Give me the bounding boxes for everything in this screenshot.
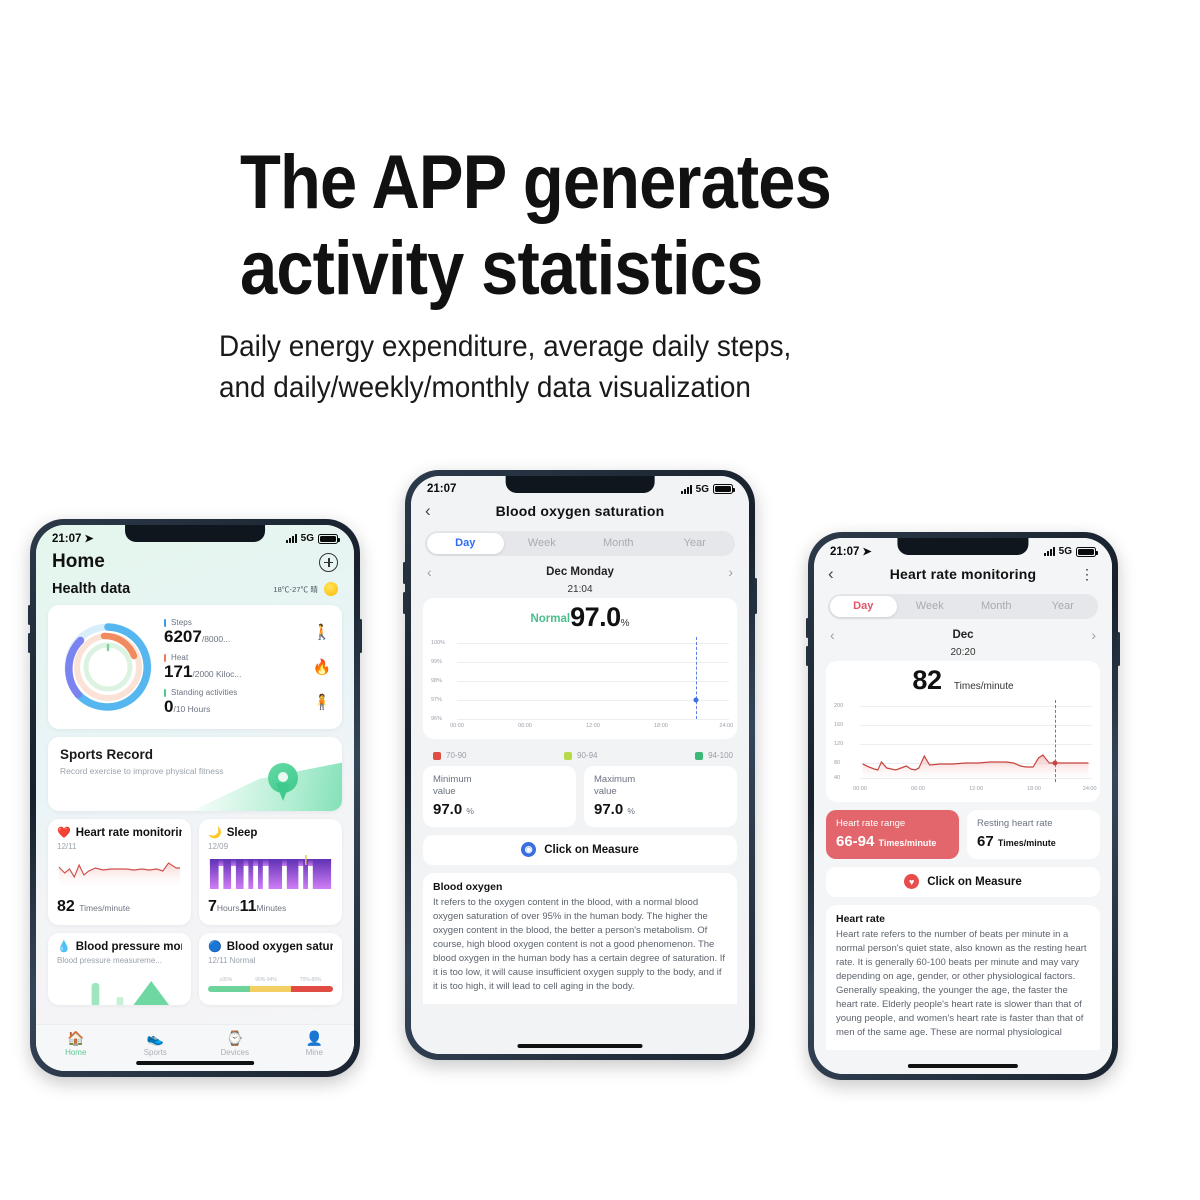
- home-header: Home: [36, 547, 354, 579]
- network-label: 5G: [1059, 546, 1072, 557]
- nav-item-sports[interactable]: 👟 Sports: [116, 1025, 196, 1063]
- headline-line-2: activity statistics: [240, 226, 944, 312]
- legend-item-high: 94-100: [695, 751, 733, 760]
- metric-goal: /10 Hours: [173, 704, 210, 714]
- chart-data-point: [1052, 761, 1057, 766]
- tab-year[interactable]: Year: [1030, 596, 1097, 617]
- summary-card-row-1: ❤️ Heart rate monitorin 12/11 82 Times/m…: [48, 819, 342, 925]
- legend-item-mid: 90-94: [564, 751, 597, 760]
- status-time: 21:07: [830, 546, 859, 558]
- page-title: Blood oxygen saturation: [447, 503, 713, 519]
- x-tick: 06:00: [518, 723, 532, 729]
- heart-icon: ♥: [904, 874, 919, 889]
- blood-pressure-card[interactable]: 💧 Blood pressure mor Blood pressure meas…: [48, 933, 191, 1005]
- page-header: ‹ Heart rate monitoring ⋮: [814, 560, 1112, 594]
- volume-up-button[interactable]: [806, 618, 809, 638]
- metric-row[interactable]: Steps 6207/8000... 🚶: [164, 618, 332, 646]
- stat-unit: Times/minute: [879, 838, 937, 848]
- status-time: 21:07: [427, 483, 456, 495]
- next-date-button[interactable]: ›: [728, 564, 733, 580]
- volume-down-button[interactable]: [28, 633, 31, 653]
- sleep-bars-chart: [208, 855, 333, 889]
- notch: [125, 525, 265, 542]
- stat-key-line1: Maximum: [594, 774, 727, 786]
- standing-icon: 🧍: [312, 693, 332, 711]
- measure-button[interactable]: ♥ Click on Measure: [826, 867, 1100, 897]
- card-value: 82: [57, 898, 75, 915]
- network-label: 5G: [696, 484, 709, 495]
- stat-key: Resting heart rate: [977, 818, 1090, 830]
- reading-time: 21:04: [411, 582, 749, 598]
- network-label: 5G: [301, 533, 314, 544]
- nav-label: Sports: [144, 1048, 167, 1057]
- resting-heart-rate-box: Resting heart rate 67 Times/minute: [967, 810, 1100, 859]
- y-tick: 97%: [431, 697, 442, 703]
- y-tick: 96%: [431, 716, 442, 722]
- plot-area: [457, 637, 729, 719]
- phone-mockup-heart-rate: 21:07 ➤ 5G ‹ Heart rate monitoring ⋮ Day…: [808, 532, 1118, 1080]
- heart-rate-day-chart[interactable]: 200 160 120 80 40: [832, 700, 1094, 796]
- info-article: Blood oxygen It refers to the oxygen con…: [423, 873, 737, 1004]
- heart-rate-area-series: [860, 700, 1092, 782]
- card-unit-min: Minutes: [257, 903, 287, 913]
- heart-icon: ❤️: [57, 828, 71, 839]
- current-reading: Normal97.0%: [429, 602, 731, 635]
- card-title: Heart rate monitorin: [76, 827, 182, 839]
- tab-day[interactable]: Day: [427, 533, 504, 554]
- tab-year[interactable]: Year: [657, 533, 734, 554]
- x-tick: 12:00: [586, 723, 600, 729]
- x-tick: 18:00: [654, 723, 668, 729]
- tab-day[interactable]: Day: [830, 596, 897, 617]
- info-article: Heart rate Heart rate refers to the numb…: [826, 905, 1100, 1050]
- volume-down-button[interactable]: [403, 592, 406, 614]
- promo-page: The APP generates activity statistics Da…: [0, 0, 1200, 1200]
- measure-button[interactable]: ◉ Click on Measure: [423, 835, 737, 865]
- page-title: Heart rate monitoring: [850, 566, 1076, 582]
- back-button[interactable]: ‹: [425, 501, 447, 521]
- tab-week[interactable]: Week: [897, 596, 964, 617]
- stat-key-line2: value: [433, 786, 566, 798]
- circle-icon: 🔵: [208, 942, 222, 953]
- heart-rate-sparkline: [57, 855, 182, 889]
- reading-time: 20:20: [814, 645, 1112, 661]
- date-navigator: ‹ Dec Monday ›: [411, 556, 749, 582]
- chart-legend: 70-90 90-94 94-100: [411, 747, 749, 766]
- page-subtitle: Daily energy expenditure, average daily …: [219, 326, 982, 408]
- battery-icon: [713, 484, 733, 494]
- spo2-chart-card: Normal97.0% 100% 99% 98% 97% 96%: [423, 598, 737, 739]
- y-tick: 120: [834, 741, 843, 747]
- shoe-icon: 👟: [147, 1031, 164, 1045]
- home-indicator: [908, 1064, 1018, 1068]
- phone-mockup-home: 21:07 ➤ 5G Home Health data: [30, 519, 360, 1077]
- reading-unit: Times/minute: [954, 681, 1014, 692]
- stat-key: Heart rate range: [836, 818, 949, 830]
- card-subtitle: 12/09: [208, 842, 333, 851]
- plot-area: [860, 700, 1092, 782]
- volume-up-button[interactable]: [403, 562, 406, 584]
- heart-rate-chart-card: 82 Times/minute 200 160 120 80 40: [826, 661, 1100, 802]
- minimum-value-box: Minimum value 97.0 %: [423, 766, 576, 827]
- y-tick: 80: [834, 760, 840, 766]
- metric-name: Standing activities: [171, 688, 237, 697]
- metric-name: Steps: [171, 618, 192, 627]
- card-title: Blood oxygen satur: [227, 941, 333, 953]
- card-title: Blood pressure mor: [76, 941, 182, 953]
- stat-unit: %: [627, 806, 635, 816]
- y-tick: 40: [834, 775, 840, 781]
- measure-label: Click on Measure: [544, 844, 639, 856]
- flame-icon: 🔥: [312, 658, 332, 676]
- card-title: Sleep: [227, 827, 258, 839]
- legend-label: 70-90: [446, 751, 466, 760]
- map-pin-icon: [268, 763, 298, 801]
- legend-label: 94-100: [708, 751, 733, 760]
- reading-value: 97.0: [570, 602, 621, 632]
- x-tick: 00:00: [853, 786, 867, 792]
- subtitle-line-1: Daily energy expenditure, average daily …: [219, 326, 982, 367]
- metric-value: 171: [164, 662, 192, 681]
- x-tick: 06:00: [911, 786, 925, 792]
- spo2-range-bar: [208, 986, 333, 992]
- bp-illustration: [57, 971, 182, 1005]
- metric-row[interactable]: Standing activities 0/10 Hours 🧍: [164, 688, 332, 716]
- nav-item-devices[interactable]: ⌚ Devices: [195, 1025, 275, 1063]
- chart-cursor-line: [696, 637, 697, 719]
- legend-label: 90-94: [577, 751, 597, 760]
- stat-key-line2: value: [594, 786, 727, 798]
- home-screen: 21:07 ➤ 5G Home Health data: [36, 525, 354, 1071]
- maximum-value-box: Maximum value 97.0 %: [584, 766, 737, 827]
- card-subtitle: 12/11 Normal: [208, 956, 333, 965]
- metric-goal: /2000 Kiloc...: [192, 669, 241, 679]
- card-subtitle: 12/11: [57, 842, 182, 851]
- article-heading: Heart rate: [836, 913, 1090, 925]
- current-reading: 82 Times/minute: [832, 665, 1094, 698]
- battery-icon: [318, 534, 338, 544]
- y-tick: 98%: [431, 678, 442, 684]
- x-tick: 18:00: [1027, 786, 1041, 792]
- page-header: ‹ Blood oxygen saturation: [411, 497, 749, 531]
- droplet-icon: 💧: [57, 942, 71, 953]
- spo2-icon: ◉: [521, 842, 536, 857]
- back-button[interactable]: ‹: [828, 564, 850, 584]
- signal-icon: [681, 485, 692, 494]
- stat-unit: Times/minute: [998, 838, 1056, 848]
- card-unit-hours: Hours: [217, 903, 240, 913]
- headline-line-1: The APP generates: [240, 140, 831, 225]
- sports-record-title: Sports Record: [60, 747, 330, 762]
- metric-goal: /8000...: [202, 634, 230, 644]
- x-axis: 00:00 06:00 12:00 18:00 24:00: [457, 721, 729, 733]
- x-tick: 00:00: [450, 723, 464, 729]
- heart-rate-card[interactable]: ❤️ Heart rate monitorin 12/11 82 Times/m…: [48, 819, 191, 925]
- date-navigator: ‹ Dec ›: [814, 619, 1112, 645]
- prev-date-button[interactable]: ‹: [830, 627, 835, 643]
- weather-widget[interactable]: 18℃-27℃ 晴: [273, 582, 338, 596]
- heart-rate-range-box: Heart rate range 66-94 Times/minute: [826, 810, 959, 859]
- card-unit: Times/minute: [79, 903, 130, 913]
- page-title: The APP generates activity statistics: [240, 140, 944, 312]
- rings-svg: [56, 615, 160, 719]
- y-tick: 200: [834, 703, 843, 709]
- nav-item-home[interactable]: 🏠 Home: [36, 1025, 116, 1063]
- next-date-button[interactable]: ›: [1091, 627, 1096, 643]
- person-icon: 👤: [306, 1031, 323, 1045]
- home-title: Home: [52, 551, 105, 573]
- legend-item-low: 70-90: [433, 751, 466, 760]
- home-icon: 🏠: [67, 1031, 84, 1045]
- moon-icon: 🌙: [208, 828, 222, 839]
- sun-icon: [324, 582, 338, 596]
- activity-rings: [56, 615, 160, 719]
- watch-icon: ⌚: [226, 1031, 243, 1045]
- current-date-label: Dec Monday: [546, 566, 614, 578]
- subtitle-line-2: and daily/weekly/monthly data visualizat…: [219, 367, 982, 408]
- stat-unit: %: [466, 806, 474, 816]
- phone-mockup-blood-oxygen: 21:07 5G ‹ Blood oxygen saturation Day W…: [405, 470, 755, 1060]
- activity-rings-card[interactable]: Steps 6207/8000... 🚶 Heat 171/2000 Kiloc…: [48, 605, 342, 729]
- kebab-menu-icon[interactable]: ⋮: [1076, 570, 1098, 578]
- battery-icon: [1076, 547, 1096, 557]
- stat-key-line1: Minimum: [433, 774, 566, 786]
- stat-value: 97.0: [433, 801, 462, 818]
- measure-label: Click on Measure: [927, 876, 1022, 888]
- volume-up-button[interactable]: [28, 605, 31, 625]
- y-tick: 160: [834, 722, 843, 728]
- heart-rate-screen: 21:07 ➤ 5G ‹ Heart rate monitoring ⋮ Day…: [814, 538, 1112, 1074]
- power-button[interactable]: [1117, 632, 1120, 666]
- nav-label: Mine: [306, 1048, 323, 1057]
- card-value-min: 11: [240, 898, 257, 915]
- y-axis: 100% 99% 98% 97% 96%: [431, 637, 457, 719]
- metric-row[interactable]: Heat 171/2000 Kiloc... 🔥: [164, 653, 332, 681]
- chart-data-point: [694, 698, 699, 703]
- tab-month[interactable]: Month: [580, 533, 657, 554]
- reading-unit: %: [621, 618, 630, 629]
- status-time: 21:07: [52, 533, 81, 545]
- x-tick: 24:00: [719, 723, 733, 729]
- location-arrow-icon: ➤: [862, 545, 871, 558]
- stat-row: Minimum value 97.0 % Maximum value 97.0 …: [423, 766, 737, 827]
- card-subtitle: Blood pressure measureme...: [57, 956, 182, 965]
- metric-name: Heat: [171, 653, 188, 662]
- stat-value: 67: [977, 833, 994, 850]
- location-arrow-icon: ➤: [84, 532, 93, 545]
- stat-value: 97.0: [594, 801, 623, 818]
- stat-value: 66-94: [836, 833, 874, 850]
- reading-value: 82: [912, 665, 941, 695]
- home-indicator: [517, 1044, 642, 1048]
- walking-icon: 🚶: [312, 623, 332, 641]
- range-label: 70%-89%: [300, 977, 322, 983]
- health-data-label: Health data: [52, 581, 130, 597]
- range-label: ≥95%: [219, 977, 232, 983]
- x-tick: 12:00: [969, 786, 983, 792]
- tab-week[interactable]: Week: [504, 533, 581, 554]
- status-badge: Normal: [530, 613, 570, 625]
- chart-cursor-line: [1055, 700, 1056, 782]
- power-button[interactable]: [359, 619, 362, 653]
- blood-oxygen-screen: 21:07 5G ‹ Blood oxygen saturation Day W…: [411, 476, 749, 1054]
- signal-icon: [1044, 547, 1055, 556]
- sleep-card[interactable]: 🌙 Sleep 12/09: [199, 819, 342, 925]
- nav-label: Home: [65, 1048, 86, 1057]
- signal-icon: [286, 534, 297, 543]
- x-axis: 00:00 06:00 12:00 18:00 24:00: [860, 784, 1092, 796]
- nav-item-mine[interactable]: 👤 Mine: [275, 1025, 355, 1063]
- range-label: 90%-94%: [255, 977, 277, 983]
- health-data-header: Health data 18℃-27℃ 晴: [36, 579, 354, 605]
- y-axis: 200 160 120 80 40: [834, 700, 860, 782]
- power-button[interactable]: [754, 578, 757, 614]
- nav-label: Devices: [221, 1048, 249, 1057]
- article-heading: Blood oxygen: [433, 881, 727, 893]
- y-tick: 100%: [431, 640, 445, 646]
- spo2-range-labels: ≥95% 90%-94% 70%-89%: [208, 977, 333, 983]
- period-tabs: Day Week Month Year: [828, 594, 1098, 619]
- stat-row: Heart rate range 66-94 Times/minute Rest…: [826, 810, 1100, 859]
- sports-record-card[interactable]: Sports Record Record exercise to improve…: [48, 737, 342, 811]
- article-body: It refers to the oxygen content in the b…: [433, 896, 727, 994]
- blood-oxygen-card[interactable]: 🔵 Blood oxygen satur 12/11 Normal ≥95% 9…: [199, 933, 342, 1005]
- notch: [506, 476, 655, 493]
- metric-list: Steps 6207/8000... 🚶 Heat 171/2000 Kiloc…: [160, 615, 332, 719]
- volume-down-button[interactable]: [806, 646, 809, 666]
- notch: [897, 538, 1028, 555]
- x-tick: 24:00: [1083, 786, 1097, 792]
- prev-date-button[interactable]: ‹: [427, 564, 432, 580]
- article-body: Heart rate refers to the number of beats…: [836, 928, 1090, 1040]
- spo2-day-chart[interactable]: 100% 99% 98% 97% 96% 00:00: [429, 637, 731, 733]
- current-date-label: Dec: [952, 629, 973, 641]
- tab-month[interactable]: Month: [963, 596, 1030, 617]
- card-value-hours: 7: [208, 898, 217, 915]
- summary-card-row-2: 💧 Blood pressure mor Blood pressure meas…: [48, 933, 342, 1005]
- y-tick: 99%: [431, 659, 442, 665]
- home-indicator: [136, 1061, 254, 1065]
- metric-value: 6207: [164, 627, 202, 646]
- period-tabs: Day Week Month Year: [425, 531, 735, 556]
- add-icon[interactable]: [319, 553, 338, 572]
- weather-text: 18℃-27℃ 晴: [273, 584, 318, 595]
